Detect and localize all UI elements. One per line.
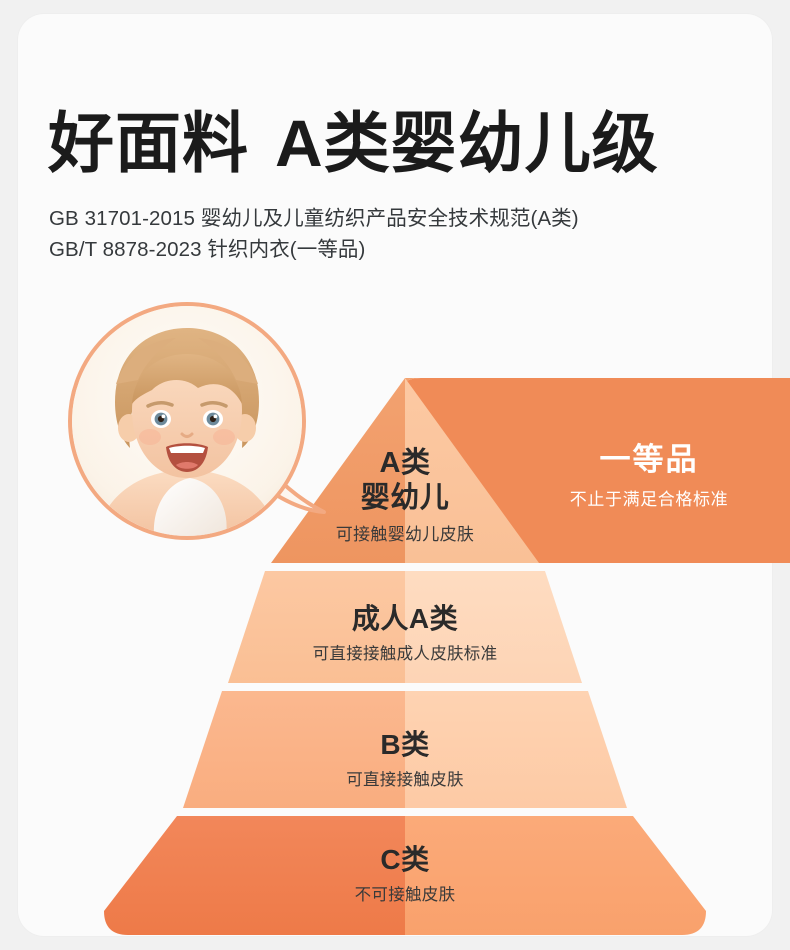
tier-label-adult-a-class: 成人A类 可直接接触成人皮肤标准 (280, 602, 530, 667)
page-title: 好面料A类婴幼儿级 (48, 104, 748, 182)
standard-line-1: GB 31701-2015 婴幼儿及儿童纺织产品安全技术规范(A类) (49, 203, 749, 234)
bubble-ring (68, 302, 306, 540)
tier-label-c-class: C类 不可接触皮肤 (280, 843, 530, 908)
page-title-left: 好面料 (48, 106, 249, 180)
grade-panel-title: 一等品 (520, 440, 778, 480)
baby-photo-bubble (68, 302, 306, 540)
tier-a-title-line2: 婴幼儿 (300, 481, 510, 516)
tier-adult-title: 成人A类 (280, 602, 530, 636)
standard-line-2: GB/T 8878-2023 针织内衣(一等品) (49, 234, 749, 265)
tier-b-description: 可直接接触皮肤 (280, 767, 530, 793)
tier-label-a-class: A类 婴幼儿 可接触婴幼儿皮肤 (300, 446, 510, 548)
tier-c-title: C类 (280, 843, 530, 877)
page-root: 好面料A类婴幼儿级 GB 31701-2015 婴幼儿及儿童纺织产品安全技术规范… (0, 0, 790, 950)
tier-b-title: B类 (280, 728, 530, 762)
baby-photo-icon (72, 306, 302, 536)
tier-label-b-class: B类 可直接接触皮肤 (280, 728, 530, 793)
grade-panel-description: 不止于满足合格标准 (520, 486, 778, 514)
page-title-right: A类婴幼儿级 (275, 106, 659, 180)
tier-a-title-line1: A类 (300, 446, 510, 481)
standards-list: GB 31701-2015 婴幼儿及儿童纺织产品安全技术规范(A类) GB/T … (49, 203, 749, 265)
grade-panel-label: 一等品 不止于满足合格标准 (520, 440, 778, 514)
tier-a-description: 可接触婴幼儿皮肤 (300, 522, 510, 548)
tier-adult-description: 可直接接触成人皮肤标准 (280, 641, 530, 667)
tier-c-description: 不可接触皮肤 (280, 882, 530, 908)
